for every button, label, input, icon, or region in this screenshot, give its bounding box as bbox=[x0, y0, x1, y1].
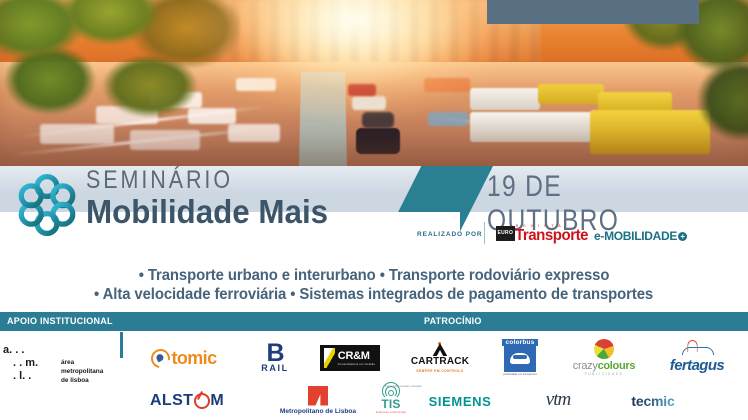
euro-badge: EURO bbox=[496, 226, 515, 241]
vehicle-dark-suv bbox=[356, 128, 400, 154]
vehicle-red bbox=[348, 84, 376, 96]
logo-tecmic: tecmic bbox=[598, 385, 708, 417]
road-median bbox=[299, 72, 347, 166]
organizer-divider bbox=[484, 222, 485, 244]
siemens-wordmark: SIEMENS bbox=[429, 394, 492, 409]
vehicle bbox=[428, 112, 468, 126]
plus-icon: + bbox=[678, 232, 687, 241]
aml-wordmark: área metropolitana de lisboa bbox=[61, 358, 103, 385]
logo-euro-transporte: EURO R E V I S T A Transporte bbox=[496, 224, 592, 243]
aml-dots-1: a. . . bbox=[3, 344, 118, 357]
b-rail-letter: B bbox=[261, 343, 288, 364]
cartrack-sub: SEMPRE EM CONTROLO bbox=[411, 369, 469, 373]
bus-white bbox=[470, 88, 540, 110]
cr-m-sub: Consultadoria em Gestão bbox=[338, 363, 375, 366]
tecmic-wordmark: tecmic bbox=[631, 393, 674, 409]
tis-sub: Fazemos a diferença bbox=[376, 410, 406, 414]
cr-m-mark: CR&M Consultadoria em Gestão bbox=[320, 345, 380, 371]
logo-fertagus: fertagus bbox=[656, 334, 738, 380]
metro-m-icon bbox=[308, 386, 328, 406]
atomic-text: tomic bbox=[171, 348, 216, 369]
colorbus-mark: colorbus publicidade em transportes bbox=[502, 339, 537, 376]
logo-b-rail: B RAIL bbox=[240, 335, 310, 381]
atomic-wordmark: tomic bbox=[151, 348, 216, 369]
fertagus-mark: fertagus bbox=[670, 340, 724, 374]
vehicle bbox=[362, 112, 394, 128]
alstom-wordmark: ALST M bbox=[150, 392, 224, 410]
colorbus-text: colorbus bbox=[502, 339, 537, 346]
label-apoio-institucional: APOIO INSTITUCIONAL bbox=[7, 316, 113, 326]
cr-m-text: CR&M bbox=[338, 351, 375, 362]
vehicle bbox=[424, 78, 470, 92]
topics-band: • Transporte urbano e interurbano • Tran… bbox=[0, 258, 748, 312]
metro-mark: Metropolitano de Lisboa bbox=[280, 386, 356, 415]
aml-word-1: área bbox=[61, 358, 103, 367]
crazycolours-sphere-icon bbox=[594, 339, 614, 359]
vehicle bbox=[352, 96, 386, 110]
sponsor-logo-grid: tomic B RAIL CR&M Consultadoria em Gestã… bbox=[124, 333, 748, 420]
logo-figueira-de-sousa: FIGUEIRA DE SOUSA TRANSPORTES E MOBILIDA… bbox=[736, 334, 748, 380]
e-mobilidade-wordmark: e-MOBILIDADE bbox=[594, 229, 677, 243]
b-rail-mark: B RAIL bbox=[261, 343, 288, 374]
event-poster: SEMINÁRIO Mobilidade Mais 19 DE OUTUBRO … bbox=[0, 0, 748, 420]
organizer-label: REALIZADO POR bbox=[417, 231, 483, 238]
title-block: SEMINÁRIO Mobilidade Mais bbox=[86, 168, 341, 229]
crazycolours-mark: crazycolours PUBLICIDADE bbox=[573, 339, 635, 376]
fertagus-bridge-icon bbox=[680, 340, 714, 356]
logo-cr-m: CR&M Consultadoria em Gestão bbox=[306, 342, 394, 374]
alstom-text: ALST bbox=[150, 392, 193, 410]
crazycolours-text: crazycolours bbox=[573, 360, 635, 372]
tis-mark: TIS Fazemos a diferença transportes inov… bbox=[376, 382, 406, 414]
vehicle bbox=[236, 78, 276, 91]
fertagus-text: fertagus bbox=[670, 357, 724, 374]
logo-crazycolours: crazycolours PUBLICIDADE bbox=[552, 333, 656, 381]
seminar-eyebrow: SEMINÁRIO bbox=[86, 168, 305, 193]
logo-area-metropolitana-de-lisboa: a. . . . . m. . l. . área metropolitana … bbox=[3, 344, 118, 383]
aml-word-3: de lisboa bbox=[61, 376, 103, 385]
page-title: Mobilidade Mais bbox=[86, 195, 328, 229]
logo-vtm: vtm bbox=[520, 383, 596, 417]
hero-photo-traffic-highway bbox=[0, 0, 748, 166]
cartrack-mark: CARTRACK SEMPRE EM CONTROLO bbox=[411, 343, 469, 373]
metro-text: Metropolitano de Lisboa bbox=[280, 408, 356, 415]
cartrack-text: CARTRACK bbox=[411, 357, 469, 367]
logo-e-mobilidade: e-MOBILIDADE + bbox=[594, 229, 687, 243]
cartrack-arrow-icon bbox=[432, 343, 447, 356]
colorbus-bus-icon bbox=[504, 346, 536, 372]
logo-siemens: SIEMENS bbox=[410, 385, 510, 417]
alstom-text-2: M bbox=[210, 392, 224, 410]
logo-atomic: tomic bbox=[124, 341, 244, 375]
atomic-ring-icon bbox=[148, 345, 174, 371]
hexagonal-knot-logo-icon bbox=[14, 172, 80, 238]
logo-colorbus: colorbus publicidade em transportes bbox=[484, 333, 556, 381]
vtm-wordmark: vtm bbox=[546, 389, 570, 411]
alstom-circle-icon bbox=[194, 393, 210, 409]
trees-left bbox=[0, 0, 240, 134]
cr-m-slash-icon bbox=[324, 348, 335, 368]
colorbus-sub: publicidade em transportes bbox=[502, 373, 537, 376]
crazycolours-sub: PUBLICIDADE bbox=[573, 372, 635, 376]
topics-line-2: • Alta velocidade ferroviária • Sistemas… bbox=[94, 286, 653, 304]
b-rail-sub: RAIL bbox=[261, 363, 288, 373]
label-patrocinio: PATROCÍNIO bbox=[424, 316, 482, 326]
aml-word-2: metropolitana bbox=[61, 367, 103, 376]
sponsor-column-divider bbox=[120, 332, 123, 358]
top-overlay-box bbox=[487, 0, 699, 24]
logo-alstom: ALST M bbox=[132, 385, 242, 417]
topics-line-1: • Transporte urbano e interurbano • Tran… bbox=[139, 267, 610, 285]
sponsor-section-header: APOIO INSTITUCIONAL PATROCÍNIO bbox=[0, 312, 748, 331]
transporte-wordmark: Transporte bbox=[515, 228, 588, 243]
